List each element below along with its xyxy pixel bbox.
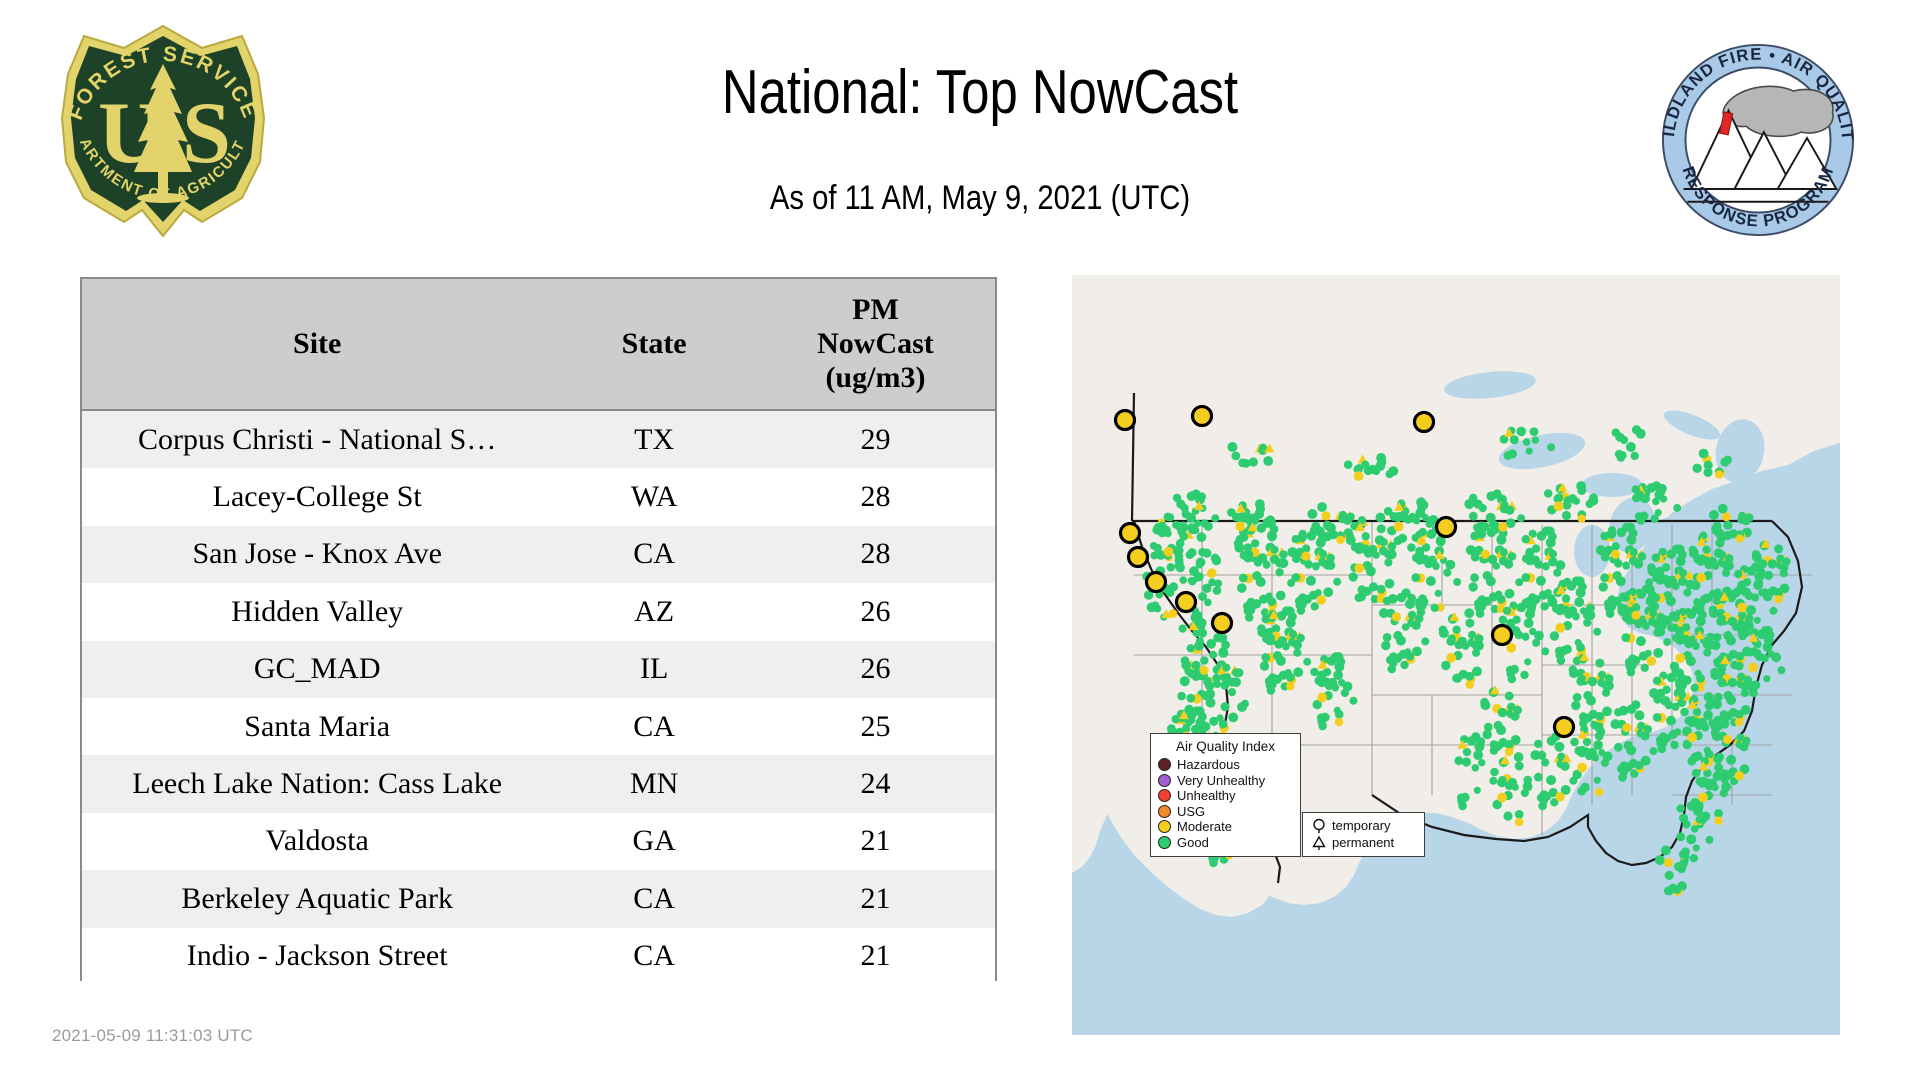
monitor-dot[interactable] [1562, 511, 1571, 520]
monitor-dot[interactable] [1666, 716, 1676, 726]
monitor-dot[interactable] [1696, 573, 1706, 583]
monitor-dot[interactable] [1764, 635, 1774, 645]
monitor-dot[interactable] [1666, 596, 1676, 606]
monitor-dot[interactable] [1287, 547, 1297, 557]
monitor-dot[interactable] [1388, 594, 1398, 604]
table-row[interactable]: San Jose - Knox AveCA28 [82, 526, 995, 583]
monitor-dot[interactable] [1529, 628, 1536, 635]
monitor-dot[interactable] [1179, 625, 1187, 633]
monitor-dot[interactable] [1411, 573, 1420, 582]
monitor-dot[interactable] [1577, 787, 1586, 796]
monitor-dot[interactable] [1693, 806, 1703, 816]
monitor-dot[interactable] [1458, 802, 1467, 811]
monitor-dot[interactable] [1768, 559, 1777, 568]
monitor-dot[interactable] [1661, 697, 1669, 705]
monitor-dot[interactable] [1515, 762, 1524, 771]
monitor-dot[interactable] [1653, 677, 1661, 685]
monitor-dot[interactable] [1317, 713, 1326, 722]
monitor-dot[interactable] [1202, 549, 1211, 558]
monitor-dot[interactable] [1722, 512, 1731, 521]
monitor-dot[interactable] [1514, 752, 1524, 762]
monitor-dot[interactable] [1724, 770, 1733, 779]
monitor-dot[interactable] [1594, 777, 1601, 784]
monitor-dot[interactable] [1735, 662, 1744, 671]
monitor-dot[interactable] [1360, 544, 1369, 553]
monitor-dot[interactable] [1179, 576, 1187, 584]
monitor-dot[interactable] [1723, 531, 1732, 540]
monitor-dot[interactable] [1252, 599, 1261, 608]
monitor-dot[interactable] [1572, 613, 1580, 621]
monitor-dot[interactable] [1661, 846, 1671, 856]
monitor-dot[interactable] [1418, 594, 1427, 603]
monitor-dot[interactable] [1480, 698, 1489, 707]
monitor-dot[interactable] [1724, 561, 1734, 571]
monitor-dot[interactable] [1675, 653, 1685, 663]
top-site-marker[interactable] [1147, 573, 1166, 592]
monitor-dot[interactable] [1260, 661, 1269, 670]
monitor-dot[interactable] [1421, 637, 1429, 645]
monitor-dot[interactable] [1600, 573, 1609, 582]
monitor-dot[interactable] [1704, 461, 1713, 470]
monitor-dot[interactable] [1677, 804, 1685, 812]
monitor-dot[interactable] [1301, 552, 1310, 561]
monitor-dot[interactable] [1454, 756, 1463, 765]
monitor-dot[interactable] [1665, 871, 1674, 880]
monitor-dot[interactable] [1741, 689, 1749, 697]
monitor-dot[interactable] [1317, 502, 1327, 512]
monitor-dot[interactable] [1695, 670, 1702, 677]
monitor-dot[interactable] [1554, 742, 1564, 752]
monitor-dot[interactable] [1641, 664, 1649, 672]
monitor-dot[interactable] [1349, 572, 1358, 581]
monitor-dot[interactable] [1702, 778, 1711, 787]
monitor-dot[interactable] [1209, 717, 1218, 726]
monitor-dot[interactable] [1758, 559, 1767, 568]
monitor-dot[interactable] [1761, 626, 1770, 635]
monitor-dot[interactable] [1741, 588, 1749, 596]
monitor-dot[interactable] [1577, 763, 1587, 773]
monitor-dot[interactable] [1186, 551, 1194, 559]
monitor-dot[interactable] [1582, 747, 1591, 756]
monitor-dot[interactable] [1561, 606, 1570, 615]
monitor-dot[interactable] [1464, 608, 1474, 618]
monitor-dot[interactable] [1606, 529, 1616, 539]
monitor-dot[interactable] [1699, 532, 1707, 540]
monitor-dot[interactable] [1679, 608, 1687, 616]
monitor-dot[interactable] [1405, 599, 1415, 609]
monitor-dot[interactable] [1506, 666, 1515, 675]
monitor-dot[interactable] [1222, 664, 1230, 672]
monitor-dot[interactable] [1670, 741, 1678, 749]
monitor-dot[interactable] [1377, 585, 1386, 594]
monitor-dot[interactable] [1266, 515, 1276, 525]
monitor-dot[interactable] [1681, 847, 1690, 856]
monitor-dot[interactable] [1767, 650, 1774, 657]
monitor-dot[interactable] [1637, 516, 1646, 525]
monitor-dot[interactable] [1483, 730, 1492, 739]
table-row[interactable]: Leech Lake Nation: Cass LakeMN24 [82, 755, 995, 812]
monitor-dot[interactable] [1696, 616, 1706, 626]
monitor-dot[interactable] [1474, 742, 1484, 752]
monitor-dot[interactable] [1173, 548, 1181, 556]
monitor-dot[interactable] [1632, 656, 1641, 665]
monitor-dot[interactable] [1509, 602, 1517, 610]
column-header-site[interactable]: Site [82, 279, 552, 410]
monitor-dot[interactable] [1672, 583, 1680, 591]
air-quality-map[interactable]: Air Quality Index HazardousVery Unhealth… [1072, 275, 1840, 1035]
monitor-dot[interactable] [1317, 693, 1327, 703]
monitor-dot[interactable] [1332, 684, 1340, 692]
monitor-dot[interactable] [1691, 798, 1700, 807]
monitor-dot[interactable] [1211, 514, 1219, 522]
monitor-dot[interactable] [1306, 576, 1316, 586]
monitor-dot[interactable] [1463, 748, 1471, 756]
monitor-dot[interactable] [1626, 442, 1636, 452]
top-site-marker[interactable] [1193, 407, 1212, 426]
monitor-dot[interactable] [1209, 651, 1217, 659]
top-site-marker[interactable] [1213, 614, 1232, 633]
monitor-dot[interactable] [1706, 836, 1714, 844]
monitor-dot[interactable] [1481, 522, 1490, 531]
monitor-dot[interactable] [1546, 775, 1556, 785]
monitor-dot[interactable] [1497, 793, 1507, 803]
monitor-dot[interactable] [1344, 460, 1353, 469]
monitor-dot[interactable] [1548, 558, 1557, 567]
monitor-dot[interactable] [1478, 759, 1485, 766]
monitor-dot[interactable] [1453, 578, 1461, 586]
monitor-dot[interactable] [1672, 614, 1680, 622]
monitor-dot[interactable] [1358, 516, 1366, 524]
monitor-dot[interactable] [1652, 498, 1660, 506]
monitor-dot[interactable] [1683, 589, 1691, 597]
monitor-dot[interactable] [1198, 592, 1207, 601]
monitor-dot[interactable] [1190, 526, 1198, 534]
monitor-dot[interactable] [1709, 510, 1719, 520]
monitor-dot[interactable] [1711, 525, 1720, 534]
monitor-dot[interactable] [1696, 815, 1704, 823]
monitor-dot[interactable] [1318, 722, 1327, 731]
monitor-dot[interactable] [1312, 563, 1320, 571]
monitor-dot[interactable] [1764, 589, 1773, 598]
monitor-dot[interactable] [1431, 604, 1439, 612]
monitor-dot[interactable] [1349, 697, 1357, 705]
monitor-dot[interactable] [1530, 750, 1540, 760]
monitor-dot[interactable] [1679, 860, 1688, 869]
monitor-dot[interactable] [1525, 548, 1534, 557]
monitor-dot[interactable] [1515, 818, 1523, 826]
monitor-dot[interactable] [1682, 820, 1690, 828]
monitor-dot[interactable] [1699, 449, 1709, 459]
monitor-dot[interactable] [1407, 543, 1416, 552]
monitor-dot[interactable] [1522, 535, 1530, 543]
monitor-dot[interactable] [1361, 461, 1369, 469]
monitor-dot[interactable] [1631, 700, 1640, 709]
monitor-dot[interactable] [1420, 501, 1429, 510]
monitor-dot[interactable] [1258, 553, 1267, 562]
monitor-dot[interactable] [1673, 504, 1681, 512]
monitor-dot[interactable] [1635, 761, 1644, 770]
monitor-dot[interactable] [1530, 427, 1539, 436]
column-header-pm-nowcast[interactable]: PM NowCast (ug/m3) [756, 279, 995, 410]
monitor-dot[interactable] [1653, 648, 1663, 658]
monitor-dot[interactable] [1448, 634, 1456, 642]
monitor-dot[interactable] [1177, 560, 1184, 567]
monitor-dot[interactable] [1698, 793, 1708, 803]
monitor-dot[interactable] [1642, 585, 1651, 594]
monitor-dot[interactable] [1532, 436, 1539, 443]
monitor-dot[interactable] [1714, 809, 1723, 818]
monitor-dot[interactable] [1303, 658, 1311, 666]
monitor-dot[interactable] [1242, 459, 1251, 468]
monitor-dot[interactable] [1169, 582, 1178, 591]
monitor-dot[interactable] [1504, 451, 1513, 460]
monitor-dot[interactable] [1167, 724, 1176, 733]
monitor-dot[interactable] [1576, 588, 1586, 598]
monitor-dot[interactable] [1532, 595, 1541, 604]
monitor-dot[interactable] [1267, 634, 1275, 642]
monitor-dot[interactable] [1236, 535, 1245, 544]
monitor-dot[interactable] [1517, 514, 1525, 522]
monitor-dot[interactable] [1323, 587, 1333, 597]
monitor-dot[interactable] [1334, 707, 1341, 714]
monitor-dot[interactable] [1276, 568, 1284, 576]
monitor-dot[interactable] [1267, 597, 1276, 606]
monitor-dot[interactable] [1524, 658, 1531, 665]
monitor-dot[interactable] [1228, 677, 1237, 686]
monitor-dot[interactable] [1252, 571, 1261, 580]
monitor-dot[interactable] [1620, 436, 1628, 444]
monitor-dot[interactable] [1564, 496, 1573, 505]
monitor-dot[interactable] [1595, 659, 1604, 668]
monitor-dot[interactable] [1595, 712, 1604, 721]
monitor-dot[interactable] [1659, 672, 1667, 680]
monitor-dot[interactable] [1718, 504, 1728, 514]
monitor-dot[interactable] [1435, 590, 1442, 597]
top-site-marker[interactable] [1493, 626, 1512, 645]
monitor-dot[interactable] [1560, 762, 1569, 771]
monitor-dot[interactable] [1307, 509, 1317, 519]
monitor-dot[interactable] [1432, 563, 1440, 571]
monitor-dot[interactable] [1235, 522, 1245, 532]
monitor-dot[interactable] [1630, 548, 1638, 556]
monitor-dot[interactable] [1497, 534, 1506, 543]
monitor-dot[interactable] [1593, 740, 1603, 750]
monitor-dot[interactable] [1675, 627, 1684, 636]
monitor-dot[interactable] [1474, 787, 1481, 794]
monitor-dot[interactable] [1381, 641, 1390, 650]
monitor-dot[interactable] [1317, 595, 1326, 604]
table-row[interactable]: ValdostaGA21 [82, 813, 995, 870]
monitor-dot[interactable] [1592, 754, 1600, 762]
monitor-dot[interactable] [1192, 489, 1201, 498]
monitor-dot[interactable] [1521, 573, 1530, 582]
monitor-dot[interactable] [1211, 554, 1220, 563]
monitor-dot[interactable] [1752, 550, 1761, 559]
monitor-dot[interactable] [1701, 556, 1710, 565]
monitor-dot[interactable] [1213, 586, 1222, 595]
monitor-dot[interactable] [1632, 425, 1641, 434]
monitor-dot[interactable] [1503, 811, 1512, 820]
monitor-dot[interactable] [1703, 649, 1711, 657]
monitor-dot[interactable] [1570, 738, 1579, 747]
monitor-dot[interactable] [1237, 583, 1246, 592]
monitor-dot[interactable] [1626, 535, 1636, 545]
monitor-dot[interactable] [1752, 594, 1760, 602]
monitor-dot[interactable] [1208, 578, 1216, 586]
monitor-dot[interactable] [1634, 560, 1643, 569]
monitor-dot[interactable] [1255, 499, 1265, 509]
monitor-dot[interactable] [1544, 489, 1553, 498]
monitor-dot[interactable] [1704, 747, 1711, 754]
monitor-dot[interactable] [1505, 589, 1515, 599]
monitor-dot[interactable] [1593, 628, 1601, 636]
monitor-dot[interactable] [1595, 788, 1603, 796]
monitor-dot[interactable] [1576, 481, 1586, 491]
monitor-dot[interactable] [1383, 633, 1392, 642]
top-site-marker[interactable] [1116, 411, 1135, 430]
monitor-dot[interactable] [1186, 513, 1196, 523]
monitor-dot[interactable] [1311, 602, 1319, 610]
monitor-dot[interactable] [1297, 532, 1307, 542]
monitor-dot[interactable] [1774, 544, 1783, 553]
monitor-dot[interactable] [1167, 563, 1175, 571]
monitor-dot[interactable] [1465, 619, 1474, 628]
monitor-dot[interactable] [1524, 618, 1534, 628]
monitor-dot[interactable] [1273, 651, 1282, 660]
monitor-dot[interactable] [1498, 522, 1507, 531]
top-site-marker[interactable] [1129, 548, 1148, 567]
monitor-dot[interactable] [1774, 595, 1782, 603]
monitor-dot[interactable] [1549, 550, 1557, 558]
monitor-dot[interactable] [1385, 579, 1395, 589]
monitor-dot[interactable] [1555, 647, 1564, 656]
monitor-dot[interactable] [1526, 448, 1533, 455]
monitor-dot[interactable] [1490, 768, 1499, 777]
monitor-dot[interactable] [1455, 641, 1464, 650]
table-row[interactable]: Indio - Jackson StreetCA21 [82, 928, 995, 985]
monitor-dot[interactable] [1653, 713, 1662, 722]
monitor-dot[interactable] [1550, 631, 1559, 640]
monitor-dot[interactable] [1693, 555, 1702, 564]
monitor-dot[interactable] [1588, 677, 1597, 686]
monitor-dot[interactable] [1734, 570, 1742, 578]
monitor-dot[interactable] [1559, 580, 1567, 588]
monitor-dot[interactable] [1777, 666, 1785, 674]
monitor-dot[interactable] [1614, 743, 1623, 752]
monitor-dot[interactable] [1473, 750, 1483, 760]
monitor-dot[interactable] [1534, 740, 1542, 748]
monitor-dot[interactable] [1746, 605, 1756, 615]
monitor-dot[interactable] [1422, 514, 1429, 521]
monitor-dot[interactable] [1505, 506, 1514, 515]
monitor-dot[interactable] [1376, 513, 1386, 523]
monitor-dot[interactable] [1541, 758, 1549, 766]
monitor-dot[interactable] [1513, 706, 1522, 715]
monitor-dot[interactable] [1547, 594, 1556, 603]
table-row[interactable]: GC_MADIL26 [82, 641, 995, 698]
monitor-dot[interactable] [1652, 554, 1660, 562]
monitor-dot[interactable] [1498, 708, 1507, 717]
monitor-dot[interactable] [1612, 428, 1620, 436]
monitor-dot[interactable] [1562, 594, 1570, 602]
monitor-dot[interactable] [1177, 692, 1186, 701]
table-row[interactable]: Berkeley Aquatic ParkCA21 [82, 870, 995, 927]
monitor-dot[interactable] [1508, 552, 1517, 561]
monitor-dot[interactable] [1286, 682, 1294, 690]
monitor-dot[interactable] [1736, 534, 1744, 542]
monitor-dot[interactable] [1780, 569, 1788, 577]
monitor-dot[interactable] [1686, 656, 1696, 666]
monitor-dot[interactable] [1573, 693, 1582, 702]
monitor-dot[interactable] [1572, 576, 1581, 585]
monitor-dot[interactable] [1541, 647, 1549, 655]
monitor-dot[interactable] [1479, 504, 1487, 512]
monitor-dot[interactable] [1193, 575, 1200, 582]
monitor-dot[interactable] [1687, 733, 1697, 743]
monitor-dot[interactable] [1351, 543, 1360, 552]
monitor-dot[interactable] [1599, 582, 1608, 591]
monitor-dot[interactable] [1331, 652, 1340, 661]
monitor-dot[interactable] [1580, 607, 1587, 614]
monitor-dot[interactable] [1181, 660, 1191, 670]
monitor-dot[interactable] [1632, 485, 1640, 493]
monitor-dot[interactable] [1643, 725, 1652, 734]
monitor-dot[interactable] [1622, 523, 1631, 532]
monitor-dot[interactable] [1466, 545, 1476, 555]
monitor-dot[interactable] [1500, 548, 1508, 556]
monitor-dot[interactable] [1394, 536, 1403, 545]
monitor-dot[interactable] [1611, 550, 1620, 559]
monitor-dot[interactable] [1508, 675, 1517, 684]
monitor-dot[interactable] [1278, 558, 1288, 568]
monitor-dot[interactable] [1504, 560, 1513, 569]
monitor-dot[interactable] [1714, 817, 1722, 825]
monitor-dot[interactable] [1196, 558, 1206, 568]
monitor-dot[interactable] [1483, 571, 1492, 580]
monitor-dot[interactable] [1213, 680, 1221, 688]
monitor-dot[interactable] [1279, 550, 1288, 559]
monitor-dot[interactable] [1610, 719, 1620, 729]
monitor-dot[interactable] [1192, 661, 1201, 670]
monitor-dot[interactable] [1241, 700, 1249, 708]
monitor-dot[interactable] [1679, 569, 1687, 577]
monitor-dot[interactable] [1622, 594, 1630, 602]
monitor-dot[interactable] [1335, 718, 1343, 726]
monitor-dot[interactable] [1546, 538, 1556, 548]
monitor-dot[interactable] [1181, 504, 1189, 512]
monitor-dot[interactable] [1466, 681, 1474, 689]
monitor-dot[interactable] [1452, 626, 1460, 634]
monitor-dot[interactable] [1642, 623, 1650, 631]
monitor-dot[interactable] [1659, 548, 1667, 556]
monitor-dot[interactable] [1416, 531, 1423, 538]
monitor-dot[interactable] [1453, 674, 1462, 683]
monitor-dot[interactable] [1583, 691, 1592, 700]
monitor-dot[interactable] [1575, 639, 1582, 646]
monitor-dot[interactable] [1166, 513, 1174, 521]
monitor-dot[interactable] [1469, 512, 1478, 521]
monitor-dot[interactable] [1714, 763, 1723, 772]
monitor-dot[interactable] [1651, 593, 1660, 602]
monitor-dot[interactable] [1721, 782, 1731, 792]
monitor-dot[interactable] [1713, 700, 1722, 709]
monitor-dot[interactable] [1418, 537, 1426, 545]
monitor-dot[interactable] [1498, 776, 1506, 784]
monitor-dot[interactable] [1505, 740, 1514, 749]
monitor-dot[interactable] [1761, 655, 1769, 663]
monitor-dot[interactable] [1153, 544, 1162, 553]
monitor-dot[interactable] [1574, 597, 1584, 607]
